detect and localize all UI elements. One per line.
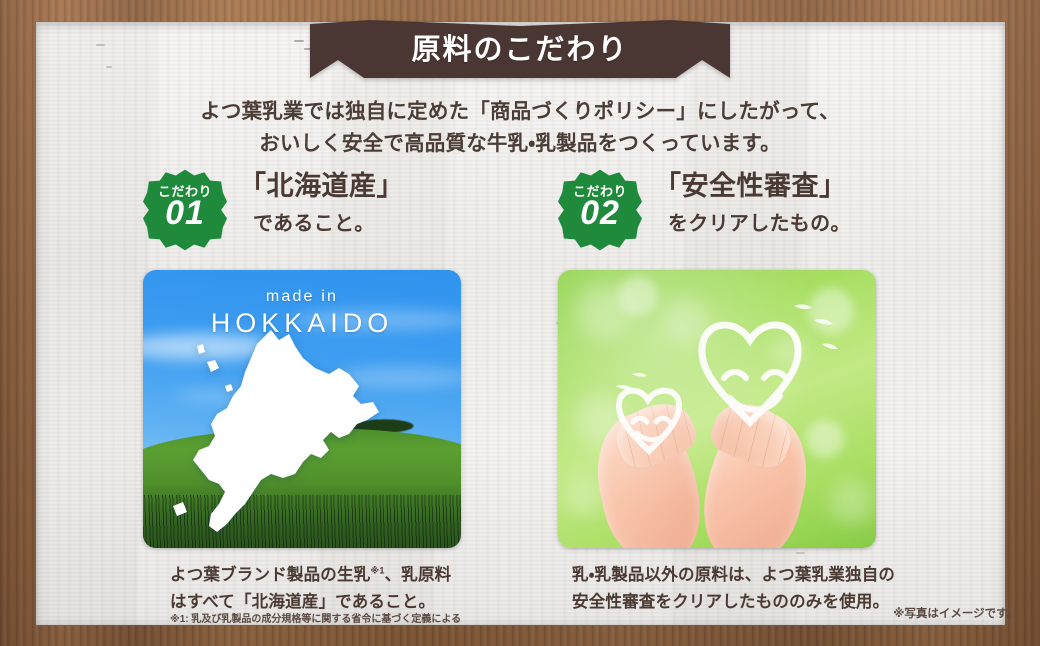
point-01-heading-row: こだわり 01 「北海道産」 であること。 [143,168,543,252]
intro-line-1: よつ葉乳業では独自に定めた「商品づくりポリシー」にしたがって、 [0,96,1040,128]
badge-02-number: 02 [558,196,642,230]
point-02-heading: 「安全性審査」 をクリアしたもの。 [654,170,851,236]
intro-line-2: おいしく安全で高品質な牛乳・乳製品をつくっています。 [0,128,1040,160]
section-banner: 原料のこだわり [310,20,730,78]
caption-text-part: 、乳原料 [385,566,452,584]
point-02-caption-line1: 乳・乳製品以外の原料は、よつ葉乳業独自の [572,562,972,589]
promo-page: 原料のこだわり よつ葉乳業では独自に定めた「商品づくりポリシー」にしたがって、 … [0,0,1040,646]
point-02-column: こだわり 02 「安全性審査」 をクリアしたもの。 [558,168,958,252]
made-in-overline: made in [143,288,461,306]
point-01-caption-line1: よつ葉ブランド製品の生乳※1、乳原料 [170,562,570,589]
hands-heart-photo [558,270,876,548]
point-02-heading-line2: をクリアしたもの。 [654,207,851,236]
point-01-heading-line1: 「北海道産」 [239,170,404,202]
image-disclaimer-note: ※写真はイメージです。 [893,605,1018,621]
point-01-heading: 「北海道産」 であること。 [239,170,404,236]
badge-01: こだわり 01 [143,168,227,252]
point-02-heading-line1: 「安全性審査」 [654,170,851,202]
panel-speck [294,40,304,42]
page-title: 原料のこだわり [310,20,730,78]
photo-highlight-overlay [558,270,876,548]
point-01-footnote: ※1: 乳及び乳製品の成分規格等に関する省令に基づく定義による [170,610,461,625]
panel-speck [796,552,805,554]
caption-text-part: よつ葉ブランド製品の生乳 [170,566,370,584]
point-01-column: こだわり 01 「北海道産」 であること。 [143,168,543,252]
footnote-marker: ※1 [370,566,384,576]
hokkaido-map-silhouette [153,328,451,544]
badge-02: こだわり 02 [558,168,642,252]
panel-speck [106,66,112,68]
point-01-heading-line2: であること。 [239,207,404,236]
point-02-heading-row: こだわり 02 「安全性審査」 をクリアしたもの。 [558,168,958,252]
panel-speck [96,44,105,46]
hokkaido-field-photo: made in HOKKAIDO [143,270,461,548]
badge-01-number: 01 [143,196,227,230]
intro-text: よつ葉乳業では独自に定めた「商品づくりポリシー」にしたがって、 おいしく安全で高… [0,96,1040,161]
hokkaido-title: HOKKAIDO [143,308,461,339]
point-01-caption: よつ葉ブランド製品の生乳※1、乳原料 はすべて「北海道産」であること。 [170,562,570,615]
